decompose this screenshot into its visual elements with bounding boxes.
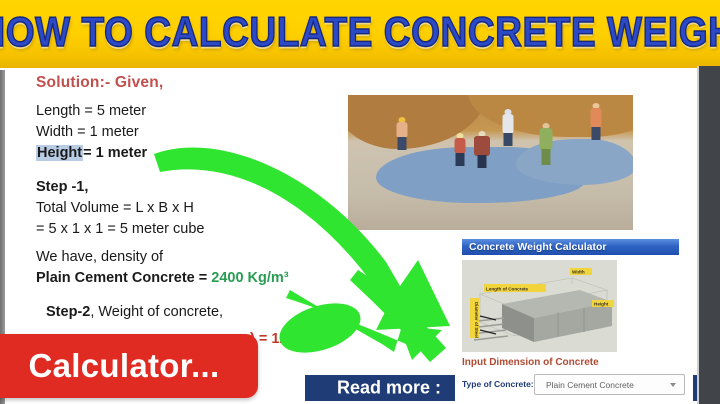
svg-text:Width: Width (572, 270, 585, 275)
type-of-concrete-label: Type of Concrete: (462, 379, 534, 389)
construction-photo (348, 95, 633, 230)
given-height-value: = 1 meter (83, 145, 147, 161)
step2-result-value: ) = 12000 Kg. (250, 331, 339, 347)
step1-line2: = 5 x 1 x 1 = 5 meter cube (36, 219, 366, 240)
step2-title: Step-2 (46, 304, 90, 320)
calculator-pill-button[interactable]: Calculator... (0, 334, 258, 398)
title-banner: HOW TO CALCULATE CONCRETE WEIGHT? (0, 0, 720, 68)
given-length: Length = 5 meter (36, 101, 366, 122)
type-of-concrete-select[interactable]: Plain Cement Concrete (534, 374, 685, 395)
given-width: Width = 1 meter (36, 122, 366, 143)
given-height: Height= 1 meter (36, 143, 366, 164)
page-title: HOW TO CALCULATE CONCRETE WEIGHT? (0, 9, 720, 56)
type-of-concrete-row: Type of Concrete: Plain Cement Concrete (462, 374, 688, 396)
calculator-title: Concrete Weight Calculator (469, 241, 607, 253)
slide-frame: HOW TO CALCULATE CONCRETE WEIGHT? Soluti… (0, 0, 720, 404)
density-label: Plain Cement Concrete = (36, 270, 211, 286)
step2-text: , Weight of concrete, (90, 304, 223, 320)
density-value: 2400 Kg/m³ (211, 270, 288, 286)
given-height-label: Height (36, 145, 83, 161)
density-line2: Plain Cement Concrete = 2400 Kg/m³ (36, 268, 366, 289)
svg-text:Diameter of Steel: Diameter of Steel (474, 302, 479, 338)
read-more-label: Read more : (337, 378, 441, 399)
step1-title: Step -1, (36, 177, 366, 198)
chevron-down-icon (670, 383, 676, 387)
type-of-concrete-value: Plain Cement Concrete (546, 380, 634, 390)
step1-line1: Total Volume = L x B x H (36, 198, 366, 219)
right-gutter (699, 66, 720, 404)
step2-line: Step-2, Weight of concrete, (36, 302, 366, 323)
concrete-beam-diagram: Length of Concrete Width Height Diameter… (462, 260, 617, 352)
solution-text-block: Solution:- Given, Length = 5 meter Width… (36, 74, 366, 350)
svg-text:Length of Concrete: Length of Concrete (486, 287, 529, 292)
solution-heading: Solution:- Given, (36, 74, 366, 92)
input-dimension-caption: Input Dimension of Concrete (462, 357, 599, 368)
density-line1: We have, density of (36, 247, 366, 268)
concrete-weight-calculator: Concrete Weight Calculator (455, 236, 693, 404)
calculator-header: Concrete Weight Calculator (462, 239, 679, 255)
calculator-pill-label: Calculator... (29, 347, 220, 385)
svg-text:Height: Height (594, 302, 609, 307)
